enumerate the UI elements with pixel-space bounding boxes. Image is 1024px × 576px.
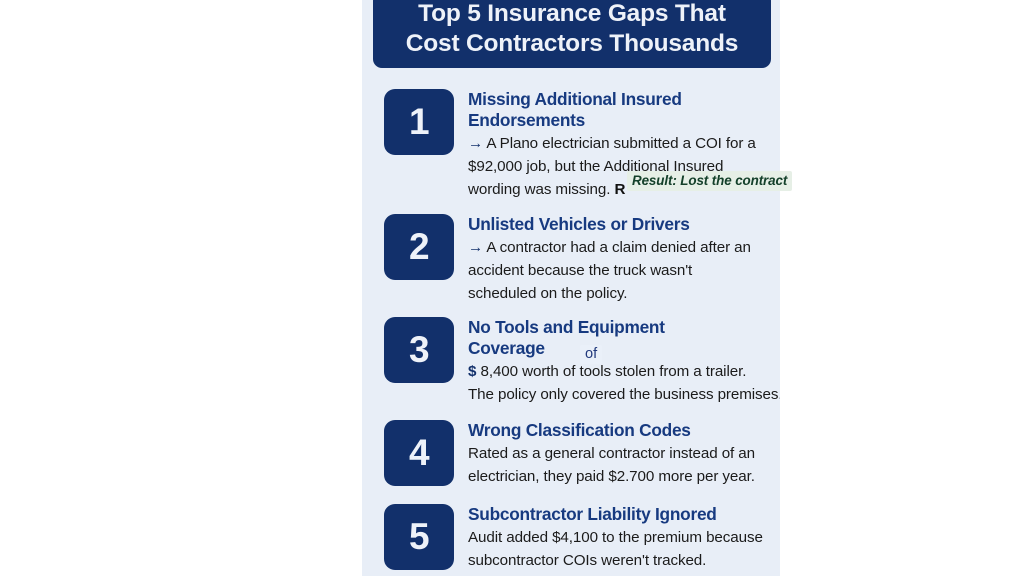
item-body: Audit added $4,100 to the premium becaus… — [468, 526, 770, 572]
item-body-text-1: A contractor had a claim denied after an — [486, 239, 750, 256]
item-title: Missing Additional Insured Endorsements — [468, 89, 770, 131]
list-item: 3 No Tools and Equipment Coverage $ 8,40… — [384, 317, 770, 406]
item-body-text-1: A Plano electrician submitted a COI for … — [486, 135, 755, 152]
arrow-icon: → — [468, 239, 483, 256]
list-item: 4 Wrong Classification Codes Rated as a … — [384, 420, 770, 488]
item-body-text-3: wording was missing. — [468, 181, 610, 198]
item-body-line-3: scheduled on the policy. — [468, 282, 770, 305]
result-annotation-label: Result: Lost the contract — [627, 171, 792, 191]
item-body: Rated as a general contractor instead of… — [468, 442, 770, 488]
item-number-badge: 3 — [384, 317, 454, 383]
of-annotation-label: of — [580, 345, 602, 364]
item-body: $ 8,400 worth of tools stolen from a tra… — [468, 360, 780, 406]
item-body: → A contractor had a claim denied after … — [468, 236, 770, 305]
item-body-line-2: accident because the truck wasn't — [468, 259, 770, 282]
item-body-line-1: → A Plano electrician submitted a COI fo… — [468, 132, 770, 155]
title-plate: Top 5 Insurance Gaps That Cost Contracto… — [373, 0, 771, 68]
item-body-line-1: $ 8,400 worth of tools stolen from a tra… — [468, 360, 780, 383]
item-content: Subcontractor Liability Ignored Audit ad… — [468, 504, 770, 572]
item-body-text-1: 8,400 worth of tools stolen from a trail… — [480, 363, 746, 380]
item-title-line-1: No Tools and Equipment — [468, 317, 780, 338]
item-content: Unlisted Vehicles or Drivers → A contrac… — [468, 214, 770, 305]
item-content: No Tools and Equipment Coverage $ 8,400 … — [468, 317, 780, 406]
item-title-line-1: Missing Additional Insured — [468, 89, 770, 110]
screenshot-canvas: Top 5 Insurance Gaps That Cost Contracto… — [0, 0, 1024, 576]
item-body-line-2: The policy only covered the business pre… — [468, 383, 780, 406]
item-title-line-1: Unlisted Vehicles or Drivers — [468, 214, 770, 235]
infographic-panel: Top 5 Insurance Gaps That Cost Contracto… — [362, 0, 780, 576]
title-line-1: Top 5 Insurance Gaps That — [418, 0, 726, 29]
item-body-tail: R — [614, 181, 625, 198]
item-number-badge: 1 — [384, 89, 454, 155]
item-body-line-1: Rated as a general contractor instead of… — [468, 442, 770, 465]
item-title-line-1: Subcontractor Liability Ignored — [468, 504, 770, 525]
title-line-2: Cost Contractors Thousands — [406, 29, 738, 59]
currency-symbol: $ — [468, 363, 476, 380]
item-number-badge: 4 — [384, 420, 454, 486]
item-title: Unlisted Vehicles or Drivers — [468, 214, 770, 235]
list-item: 2 Unlisted Vehicles or Drivers → A contr… — [384, 214, 770, 305]
item-title-line-2: Endorsements — [468, 110, 770, 131]
item-title: No Tools and Equipment Coverage — [468, 317, 780, 359]
item-body-line-1: Audit added $4,100 to the premium becaus… — [468, 526, 770, 549]
item-number-badge: 2 — [384, 214, 454, 280]
item-number-badge: 5 — [384, 504, 454, 570]
item-title: Wrong Classification Codes — [468, 420, 770, 441]
item-body: → A Plano electrician submitted a COI fo… — [468, 132, 770, 201]
item-body-line-1: → A contractor had a claim denied after … — [468, 236, 770, 259]
arrow-icon: → — [468, 135, 483, 152]
item-title: Subcontractor Liability Ignored — [468, 504, 770, 525]
item-body-line-2: electrician, they paid $2.700 more per y… — [468, 465, 770, 488]
list-item: 5 Subcontractor Liability Ignored Audit … — [384, 504, 770, 572]
item-title-line-2: Coverage — [468, 338, 780, 359]
item-content: Wrong Classification Codes Rated as a ge… — [468, 420, 770, 488]
item-body-line-2: subcontractor COIs weren't tracked. — [468, 549, 770, 572]
item-title-line-1: Wrong Classification Codes — [468, 420, 770, 441]
